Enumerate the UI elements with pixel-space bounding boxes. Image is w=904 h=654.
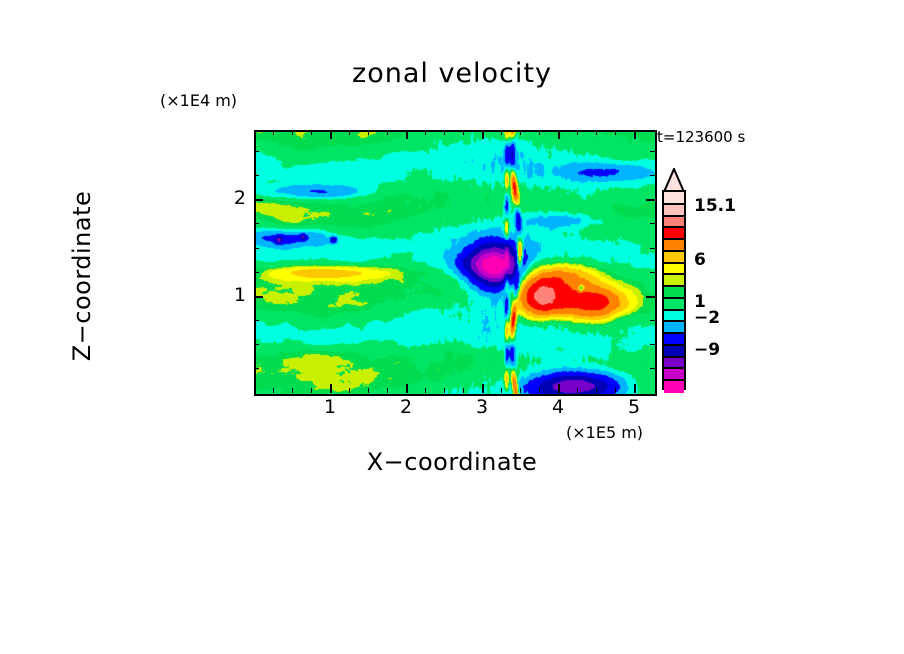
x-minor-tick [368,388,369,393]
colorbar-divider [664,273,684,275]
colorbar-label: 15.1 [694,196,736,216]
colorbar-arrow-tip [662,168,686,192]
x-minor-tick-top [387,130,388,135]
x-minor-tick [292,388,293,393]
colorbar-label: 6 [694,250,706,270]
y-minor-tick [254,223,259,224]
y-major-tick [254,296,263,298]
y-minor-tick-right [650,151,655,152]
y-minor-tick-right [650,175,655,176]
figure-canvas: zonal velocity (×1E4 m) (×1E5 m) X−coord… [0,0,904,654]
y-minor-tick [254,151,259,152]
x-major-tick-top [482,130,484,139]
y-minor-tick-right [650,368,655,369]
x-minor-tick [596,388,597,393]
colorbar-divider [664,309,684,311]
x-tick-label: 2 [391,396,421,418]
x-minor-tick [520,388,521,393]
x-minor-tick-top [444,130,445,135]
y-minor-tick-right [650,223,655,224]
velocity-field-image [256,132,655,394]
x-minor-tick [577,388,578,393]
x-major-tick-top [558,130,560,139]
y-minor-tick-right [650,344,655,345]
x-major-tick-top [634,130,636,139]
x-minor-tick [463,388,464,393]
x-major-tick [482,384,484,393]
x-tick-label: 4 [543,396,573,418]
x-tick-label: 1 [315,396,345,418]
y-major-tick-right [646,296,655,298]
colorbar-divider [664,226,684,228]
y-minor-tick [254,175,259,176]
colorbar-divider [664,332,684,334]
contour-plot-area [254,130,657,396]
x-minor-tick [501,388,502,393]
x-minor-tick [539,388,540,393]
y-major-tick [254,199,263,201]
x-minor-tick-top [577,130,578,135]
x-minor-tick [615,388,616,393]
x-minor-tick-top [292,130,293,135]
x-minor-tick-top [596,130,597,135]
colorbar-divider [664,285,684,287]
colorbar-divider [664,379,684,381]
chart-title: zonal velocity [0,58,904,89]
x-axis-title: X−coordinate [0,448,904,476]
colorbar-divider [664,344,684,346]
colorbar-divider [664,203,684,205]
x-minor-tick [273,388,274,393]
colorbar-divider [664,297,684,299]
colorbar-label: −9 [694,340,720,360]
x-major-tick [634,384,636,393]
x-tick-label: 3 [467,396,497,418]
y-minor-tick-right [650,248,655,249]
colorbar-bands [662,190,686,390]
timestamp-annotation: t=123600 s [657,128,745,146]
y-axis-unit-label: (×1E4 m) [160,91,237,110]
y-axis-title: Z−coordinate [68,136,96,416]
colorbar-divider [664,250,684,252]
colorbar-divider [664,215,684,217]
colorbar-divider [664,367,684,369]
x-minor-tick [444,388,445,393]
y-minor-tick [254,344,259,345]
colorbar-label: −2 [694,308,720,328]
x-minor-tick-top [520,130,521,135]
y-minor-tick [254,368,259,369]
x-major-tick-top [406,130,408,139]
y-minor-tick-right [650,272,655,273]
x-minor-tick-top [273,130,274,135]
colorbar-divider [664,320,684,322]
x-minor-tick-top [463,130,464,135]
x-major-tick-top [330,130,332,139]
x-minor-tick-top [501,130,502,135]
x-minor-tick-top [368,130,369,135]
colorbar [662,168,686,390]
colorbar-divider [664,356,684,358]
x-major-tick [558,384,560,393]
x-minor-tick [349,388,350,393]
y-minor-tick-right [650,320,655,321]
colorbar-divider [664,262,684,264]
x-minor-tick [387,388,388,393]
x-major-tick [406,384,408,393]
y-minor-tick [254,248,259,249]
x-tick-label: 5 [619,396,649,418]
x-major-tick [330,384,332,393]
x-axis-unit-label: (×1E5 m) [566,423,643,442]
y-tick-label: 1 [224,284,246,306]
y-minor-tick [254,320,259,321]
colorbar-band [664,380,684,392]
y-major-tick-right [646,199,655,201]
x-minor-tick-top [615,130,616,135]
x-minor-tick-top [425,130,426,135]
x-minor-tick-top [349,130,350,135]
x-minor-tick [425,388,426,393]
colorbar-divider [664,238,684,240]
y-tick-label: 2 [224,187,246,209]
x-minor-tick-top [311,130,312,135]
x-minor-tick-top [539,130,540,135]
x-minor-tick [311,388,312,393]
y-minor-tick [254,272,259,273]
